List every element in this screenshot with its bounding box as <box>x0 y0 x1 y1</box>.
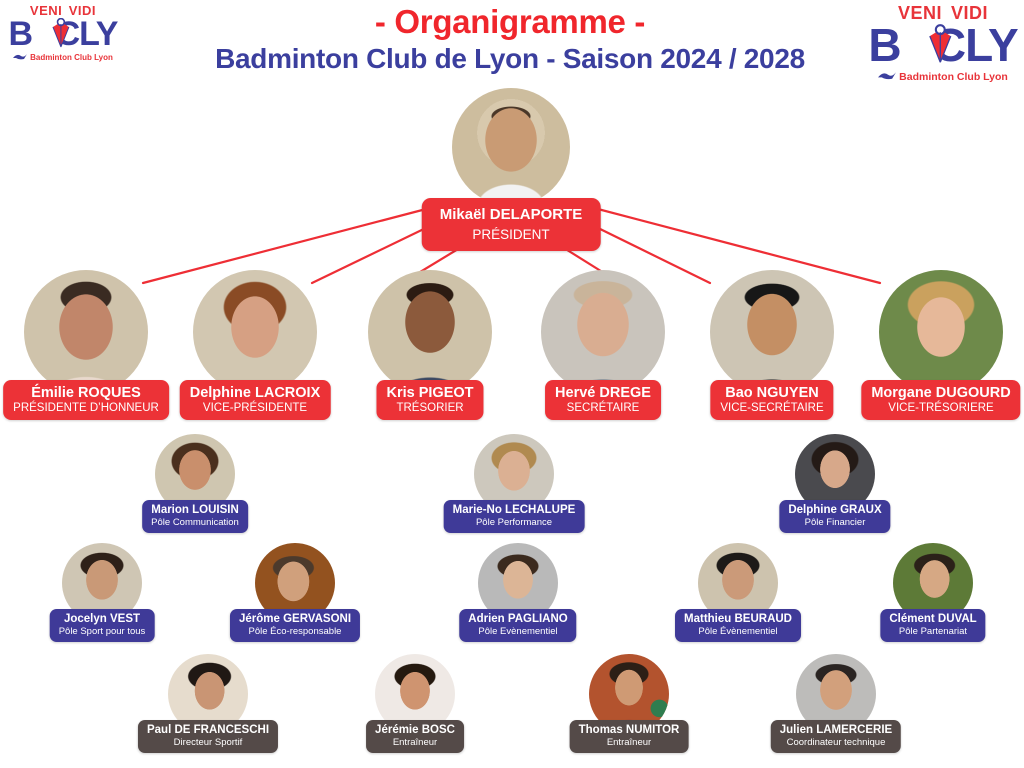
pole-role: Pôle Performance <box>453 517 576 528</box>
pole-name: Clément DUVAL <box>889 613 976 625</box>
label-bureau-2: Kris PIGEOT TRÉSORIER <box>376 380 483 420</box>
node-pole-3[interactable]: Jocelyn VEST Pôle Sport pour tous <box>47 543 157 623</box>
pole-name: Jocelyn VEST <box>59 613 146 625</box>
pole-name: Marion LOUISIN <box>151 504 239 516</box>
bureau-name: Delphine LACROIX <box>190 385 321 401</box>
staff-name: Jérémie BOSC <box>375 724 455 736</box>
label-pole-1: Marie-No LECHALUPE Pôle Performance <box>444 500 585 533</box>
label-bureau-1: Delphine LACROIX VICE-PRÉSIDENTE <box>180 380 331 420</box>
node-bureau-2[interactable]: Kris PIGEOT TRÉSORIER <box>366 270 494 394</box>
president-role: PRÉSIDENT <box>440 227 583 242</box>
avatar-photo-placeholder <box>368 270 492 394</box>
node-bureau-4[interactable]: Bao NGUYEN VICE-SECRÉTAIRE <box>708 270 836 394</box>
label-pole-6: Matthieu BEURAUD Pôle Évènementiel <box>675 609 801 642</box>
avatar-photo-placeholder <box>879 270 1003 394</box>
node-staff-0[interactable]: Paul DE FRANCESCHI Directeur Sportif <box>153 654 263 734</box>
avatar-photo-placeholder <box>452 88 570 206</box>
label-staff-1: Jérémie BOSC Entraîneur <box>366 720 464 753</box>
node-bureau-5[interactable]: Morgane DUGOURD VICE-TRÉSORIERE <box>877 270 1005 394</box>
label-pole-5: Adrien PAGLIANO Pôle Evènementiel <box>459 609 576 642</box>
label-bureau-5: Morgane DUGOURD VICE-TRÉSORIERE <box>861 380 1020 420</box>
avatar-photo-placeholder <box>541 270 665 394</box>
logo-tagline-text-right: Badminton Club Lyon <box>899 72 1008 83</box>
label-pole-2: Delphine GRAUX Pôle Financier <box>779 500 890 533</box>
node-bureau-1[interactable]: Delphine LACROIX VICE-PRÉSIDENTE <box>191 270 319 394</box>
page-title: - Organigramme - Badminton Club de Lyon … <box>130 4 890 75</box>
title-main: - Organigramme - <box>130 4 890 41</box>
logo-bacly-left: VENI VIDI BACLY Badminton Club Lyon <box>8 4 118 62</box>
avatar-president <box>452 88 570 206</box>
bureau-name: Bao NGUYEN <box>720 385 823 401</box>
staff-role: Entraîneur <box>375 737 455 748</box>
bureau-name: Hervé DREGE <box>555 385 651 401</box>
pole-name: Delphine GRAUX <box>788 504 881 516</box>
pole-role: Pôle Éco-responsable <box>239 626 351 637</box>
label-pole-4: Jérôme GERVASONI Pôle Éco-responsable <box>230 609 360 642</box>
bureau-role: TRÉSORIER <box>386 402 473 414</box>
label-bureau-0: Émilie ROQUES PRÉSIDENTE D’HONNEUR <box>3 380 169 420</box>
node-pole-6[interactable]: Matthieu BEURAUD Pôle Évènementiel <box>683 543 793 623</box>
node-pole-5[interactable]: Adrien PAGLIANO Pôle Evènementiel <box>463 543 573 623</box>
staff-role: Coordinateur technique <box>780 737 892 748</box>
avatar-bureau-1 <box>193 270 317 394</box>
node-pole-0[interactable]: Marion LOUISIN Pôle Communication <box>140 434 250 514</box>
node-pole-2[interactable]: Delphine GRAUX Pôle Financier <box>780 434 890 514</box>
shuttlecock-icon <box>48 18 74 54</box>
label-pole-0: Marion LOUISIN Pôle Communication <box>142 500 248 533</box>
label-staff-3: Julien LAMERCERIE Coordinateur technique <box>771 720 901 753</box>
label-president: Mikaël DELAPORTE PRÉSIDENT <box>422 198 601 251</box>
node-bureau-3[interactable]: Hervé DREGE SECRÉTAIRE <box>539 270 667 394</box>
bureau-role: SECRÉTAIRE <box>555 402 651 414</box>
avatar-photo-placeholder <box>710 270 834 394</box>
label-staff-0: Paul DE FRANCESCHI Directeur Sportif <box>138 720 278 753</box>
bureau-name: Kris PIGEOT <box>386 385 473 401</box>
node-pole-7[interactable]: Clément DUVAL Pôle Partenariat <box>878 543 988 623</box>
pole-name: Adrien PAGLIANO <box>468 613 567 625</box>
avatar-photo-placeholder <box>193 270 317 394</box>
staff-name: Julien LAMERCERIE <box>780 724 892 736</box>
label-pole-3: Jocelyn VEST Pôle Sport pour tous <box>50 609 155 642</box>
pole-role: Pôle Communication <box>151 517 239 528</box>
node-staff-2[interactable]: Thomas NUMITOR Entraîneur <box>574 654 684 734</box>
pole-name: Matthieu BEURAUD <box>684 613 792 625</box>
avatar-bureau-5 <box>879 270 1003 394</box>
label-staff-2: Thomas NUMITOR Entraîneur <box>570 720 689 753</box>
logo-tagline-text: Badminton Club Lyon <box>30 54 113 62</box>
pole-role: Pôle Sport pour tous <box>59 626 146 637</box>
avatar-bureau-2 <box>368 270 492 394</box>
bureau-name: Émilie ROQUES <box>13 385 159 401</box>
avatar-bureau-0 <box>24 270 148 394</box>
pole-name: Jérôme GERVASONI <box>239 613 351 625</box>
pole-role: Pôle Évènementiel <box>684 626 792 637</box>
logo-wordmark-right: BACLY <box>868 22 1017 68</box>
pole-role: Pôle Financier <box>788 517 881 528</box>
logo-wordmark-b: B <box>8 15 32 53</box>
avatar-bureau-3 <box>541 270 665 394</box>
bureau-role: PRÉSIDENTE D’HONNEUR <box>13 402 159 414</box>
staff-role: Directeur Sportif <box>147 737 269 748</box>
node-staff-1[interactable]: Jérémie BOSC Entraîneur <box>360 654 470 734</box>
staff-name: Paul DE FRANCESCHI <box>147 724 269 736</box>
logo-tagline-right: Badminton Club Lyon <box>868 71 1018 83</box>
shuttlecock-icon-right <box>923 24 957 71</box>
node-bureau-0[interactable]: Émilie ROQUES PRÉSIDENTE D’HONNEUR <box>22 270 150 394</box>
node-pole-4[interactable]: Jérôme GERVASONI Pôle Éco-responsable <box>240 543 350 623</box>
node-president[interactable]: Mikaël DELAPORTE PRÉSIDENT <box>452 88 570 206</box>
staff-name: Thomas NUMITOR <box>579 724 680 736</box>
pole-name: Marie-No LECHALUPE <box>453 504 576 516</box>
bird-icon <box>13 53 27 62</box>
logo-bacly-right: VENI VIDI BACLY Badminton Club Lyon <box>868 4 1018 83</box>
organigramme-canvas: VENI VIDI BACLY Badminton Club Lyon VENI… <box>0 0 1024 768</box>
logo-wordmark-left: BACLY <box>8 17 117 51</box>
title-subtitle: Badminton Club de Lyon - Saison 2024 / 2… <box>130 43 890 75</box>
bureau-name: Morgane DUGOURD <box>871 385 1010 401</box>
label-pole-7: Clément DUVAL Pôle Partenariat <box>880 609 985 642</box>
bureau-role: VICE-SECRÉTAIRE <box>720 402 823 414</box>
node-pole-1[interactable]: Marie-No LECHALUPE Pôle Performance <box>459 434 569 514</box>
staff-role: Entraîneur <box>579 737 680 748</box>
pole-role: Pôle Partenariat <box>889 626 976 637</box>
avatar-photo-placeholder <box>24 270 148 394</box>
bureau-role: VICE-PRÉSIDENTE <box>190 402 321 414</box>
avatar-bureau-4 <box>710 270 834 394</box>
president-name: Mikaël DELAPORTE <box>440 206 583 223</box>
pole-role: Pôle Evènementiel <box>468 626 567 637</box>
node-staff-3[interactable]: Julien LAMERCERIE Coordinateur technique <box>781 654 891 734</box>
bureau-role: VICE-TRÉSORIERE <box>871 402 1010 414</box>
label-bureau-4: Bao NGUYEN VICE-SECRÉTAIRE <box>710 380 833 420</box>
label-bureau-3: Hervé DREGE SECRÉTAIRE <box>545 380 661 420</box>
